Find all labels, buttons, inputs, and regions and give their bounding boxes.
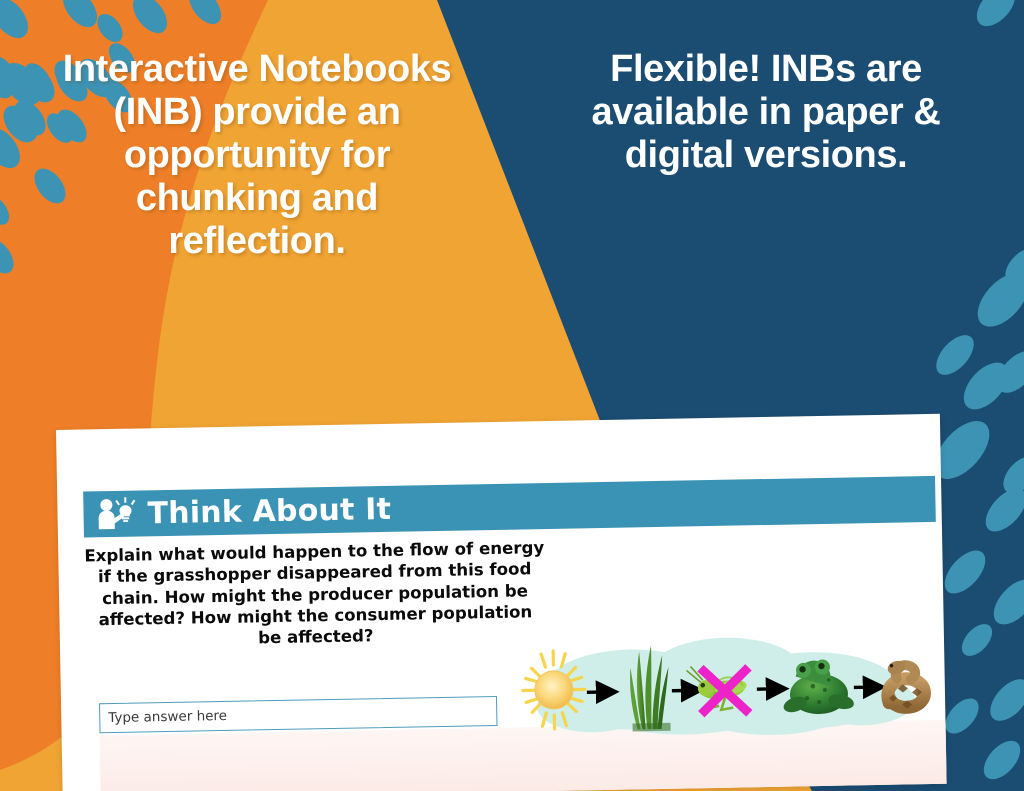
think-about-it-card: Think About It Explain what would happen…	[56, 414, 947, 791]
arrow-2	[672, 690, 700, 691]
arrow-4	[854, 687, 882, 688]
prompt-text: Explain what would happen to the flow of…	[84, 537, 546, 652]
slide-canvas: Interactive Notebooks (INB) provide an o…	[0, 0, 1024, 791]
right-headline: Flexible! INBs are available in paper & …	[556, 48, 976, 177]
person-with-lightbulb-icon	[95, 497, 138, 532]
left-headline: Interactive Notebooks (INB) provide an o…	[52, 48, 462, 263]
arrow-3	[757, 689, 785, 690]
arrow-1	[587, 692, 615, 693]
card-title: Think About It	[147, 491, 391, 530]
food-chain-diagram	[510, 626, 932, 754]
snake-icon	[886, 658, 925, 708]
